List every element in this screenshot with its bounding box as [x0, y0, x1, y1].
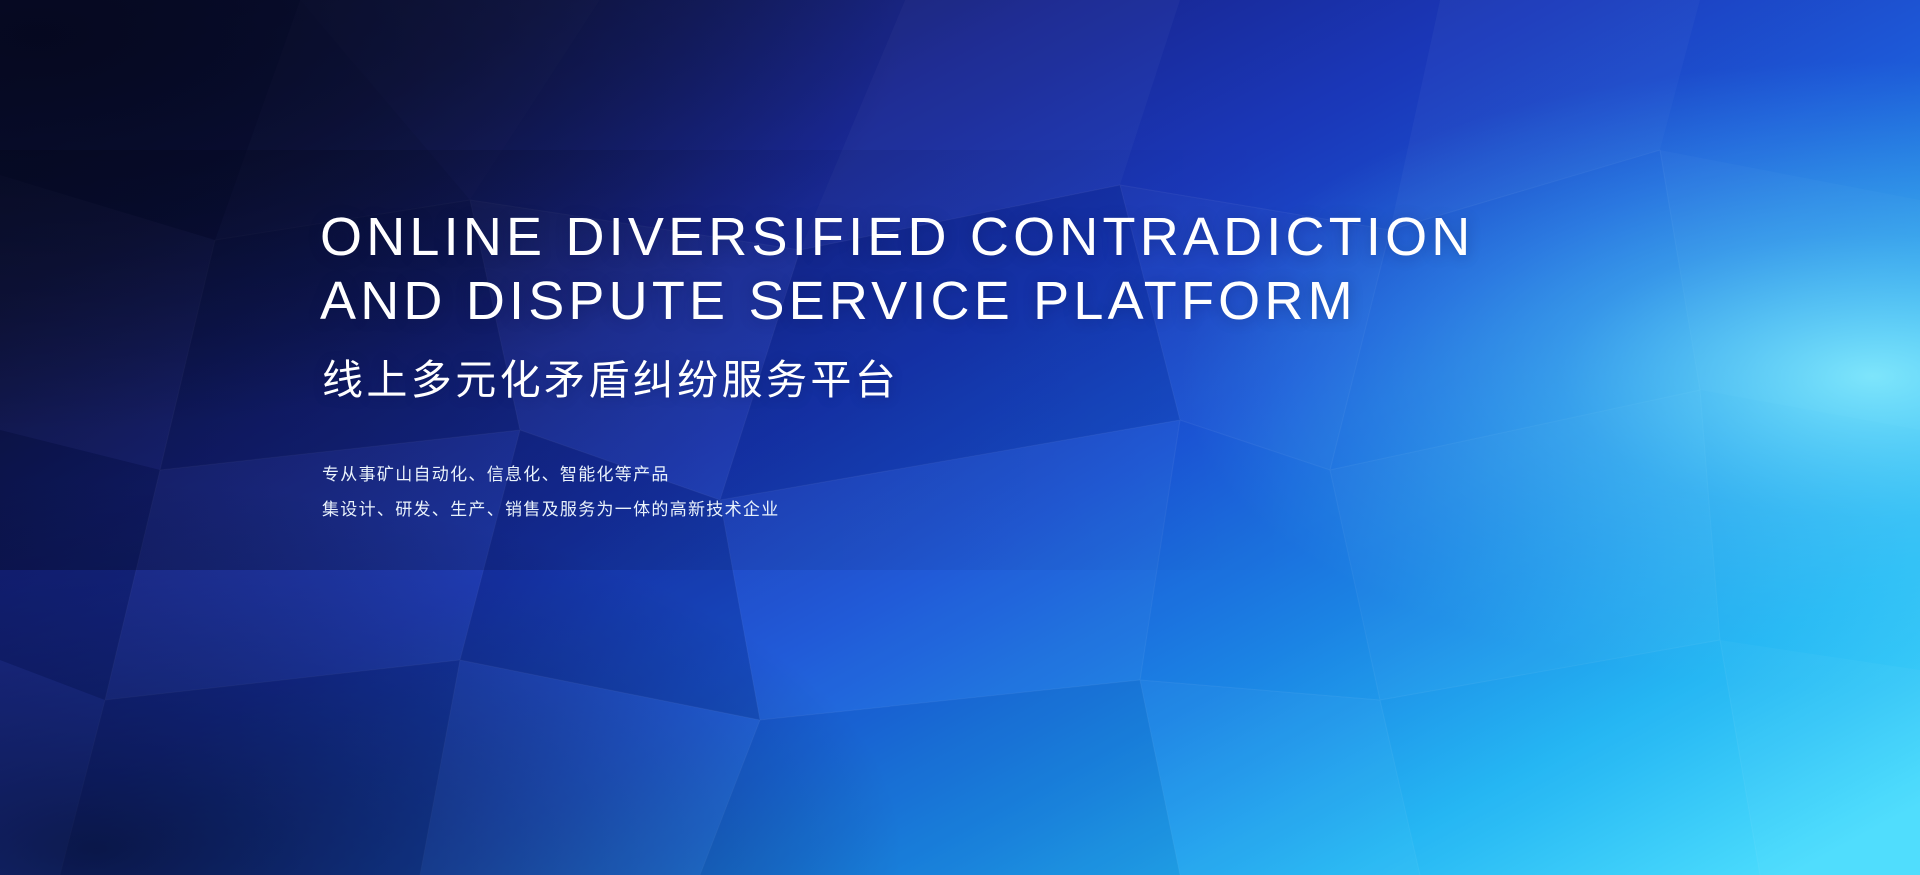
subtitle-line-1: 专从事矿山自动化、信息化、智能化等产品 — [322, 457, 780, 492]
subtitle-block: 专从事矿山自动化、信息化、智能化等产品 集设计、研发、生产、销售及服务为一体的高… — [322, 457, 780, 527]
banner-content: ONLINE DIVERSIFIED CONTRADICTION AND DIS… — [320, 0, 1720, 875]
hero-banner: ONLINE DIVERSIFIED CONTRADICTION AND DIS… — [0, 0, 1920, 875]
english-headline: ONLINE DIVERSIFIED CONTRADICTION AND DIS… — [320, 205, 1475, 333]
chinese-headline: 线上多元化矛盾纠纷服务平台 — [322, 354, 899, 406]
subtitle-line-2: 集设计、研发、生产、销售及服务为一体的高新技术企业 — [322, 492, 780, 527]
